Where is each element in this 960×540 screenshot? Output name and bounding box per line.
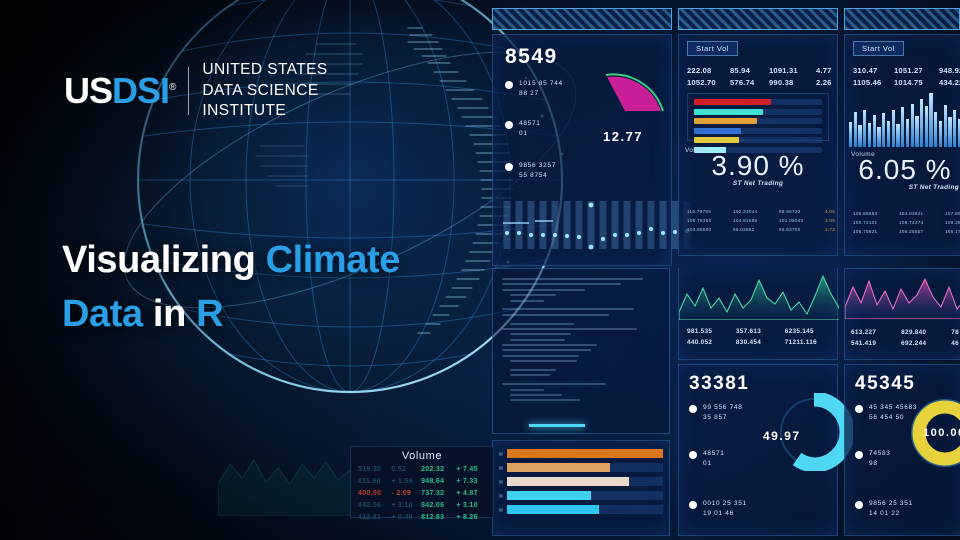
title-word-climate: Climate (266, 239, 400, 281)
cell: 1014.75 (894, 78, 932, 87)
cell: 4.05 (825, 207, 839, 216)
bar-row (694, 118, 822, 124)
cell: + 1.59 (391, 476, 421, 488)
values-col-1: 981.535 440.052 (687, 326, 712, 348)
values-col-3: 78 46 (951, 327, 959, 349)
table-row: 400.50 - 2.09 737.32 + 4.87 (358, 488, 486, 500)
value: 829.840 (901, 327, 926, 338)
panel4-list: 99 556 74835 857 4857101 0010 25 35119 0… (689, 403, 785, 523)
panel2-values-row-1: 222.08 85.94 1091.31 4.77 (687, 66, 838, 75)
code-line (502, 283, 621, 285)
code-line (502, 289, 585, 291)
cell: + 7.33 (456, 476, 486, 488)
list-item[interactable]: 9856 25 35114 01 22 (855, 499, 941, 519)
column-bar (953, 110, 956, 147)
pink-chart-values: 613.227 541.419 829.840 692.244 78 46 (851, 327, 959, 349)
cell: 1051.27 (894, 66, 932, 75)
cell: 222.08 (687, 66, 723, 75)
column-bar (911, 104, 914, 147)
cell: 519.30 (358, 464, 391, 476)
panel1-big-number: 8549 (505, 45, 558, 69)
hatched-header-bar-2 (678, 8, 838, 30)
values-col-3: 6235.145 71211.116 (785, 326, 817, 348)
cell: + 3.10 (456, 500, 486, 512)
panel1-scatter-chart (501, 197, 687, 253)
list-item-line2: 56 454 50 (869, 414, 904, 421)
list-item-line2: 14 01 22 (869, 510, 900, 517)
cell: + 7.45 (456, 464, 486, 476)
cell: 948.92 (939, 66, 960, 75)
cell: 434.22 (939, 78, 960, 87)
panel1-list: 1015 85 74488 27 4857101 9856 325755 875… (505, 79, 605, 185)
column-bar (858, 125, 861, 147)
bar-label: ▤ (499, 507, 504, 512)
column-bar (892, 110, 895, 147)
panel-start-vol-605[interactable]: Start Vol 310.47 1051.27 948.92 1105.46 … (844, 34, 960, 256)
code-line (502, 328, 637, 330)
title-word-in: in (143, 293, 196, 335)
column-bar (877, 127, 880, 147)
bar-track (507, 477, 663, 486)
column-bar (901, 107, 904, 147)
code-progress-bar (529, 424, 585, 427)
value: 613.227 (851, 327, 876, 338)
value: 440.052 (687, 337, 712, 348)
cell: 107.65.43 (945, 209, 960, 218)
cell: 1105.46 (853, 78, 887, 87)
cell: 102.23044 (733, 207, 767, 216)
cell: 811.90 (358, 476, 391, 488)
bullet-dot-icon (689, 501, 697, 509)
bullet-dot-icon (689, 405, 697, 413)
panel-metric-33381[interactable]: 33381 99 556 74835 857 4857101 0010 25 3… (678, 364, 838, 536)
list-item[interactable]: 99 556 74835 857 (689, 403, 785, 423)
code-line (510, 333, 571, 335)
title-word-r: R (196, 293, 223, 335)
cell: 412.81 (358, 512, 391, 524)
panel-source-code[interactable] (492, 268, 670, 434)
bullet-dot-icon (505, 121, 513, 129)
code-line (510, 300, 544, 302)
hatched-header-bar-1 (492, 8, 672, 30)
bar-fill (507, 477, 629, 486)
panel2-start-vol-chip: Start Vol (687, 41, 738, 56)
code-line (502, 308, 634, 310)
panel-metric-45345[interactable]: 45345 45 345 4568356 454 50 7458398 9856… (844, 364, 960, 536)
cell: 98.98722 (779, 207, 813, 216)
panel3-volume-block: Volume 6.05 % ST Net Trading (851, 151, 959, 191)
bullet-dot-icon (505, 163, 513, 171)
code-lines (502, 278, 655, 405)
bar-row: ▤ (499, 491, 663, 500)
cell: + 4.87 (456, 488, 486, 500)
code-line (502, 278, 643, 280)
bar-row: ▤ (499, 505, 663, 514)
cell: 1091.31 (769, 66, 809, 75)
column-bar (915, 116, 918, 147)
usdsi-logo: USDSI® UNITED STATES DATA SCIENCE INSTIT… (64, 60, 328, 122)
panel3-values-row-2: 1105.46 1014.75 434.22 (853, 78, 960, 87)
background-area-chart (218, 444, 358, 516)
column-bar (948, 117, 951, 147)
cell: - 2.09 (391, 488, 421, 500)
panel-area-chart-green[interactable]: 981.535 440.052 357.613 830.454 6235.145… (678, 268, 838, 360)
list-item-line1: 48571 (519, 120, 541, 127)
cell: + 0.49 (391, 512, 421, 524)
code-line (510, 399, 580, 401)
logo-us-text: US (64, 70, 112, 111)
value: 71211.116 (785, 337, 817, 348)
hatched-header-bar-3 (844, 8, 960, 30)
panel5-gauge-value: 100.00 (923, 427, 960, 439)
cell: 400.50 (358, 488, 391, 500)
column-bar (854, 112, 857, 147)
panel3-column-chart (849, 93, 960, 147)
bullet-dot-icon (855, 501, 863, 509)
cell: 100.72101 (853, 218, 887, 227)
bullet-dot-icon (689, 451, 697, 459)
list-item-line2: 19 01 46 (703, 510, 734, 517)
cell: 990.38 (769, 78, 809, 87)
table-row: 100.72101108.74474106.38880 (853, 218, 959, 227)
values-col-2: 829.840 692.244 (901, 327, 926, 349)
code-line (502, 383, 606, 385)
list-item[interactable]: 4857101 (689, 449, 785, 469)
code-line (510, 339, 565, 341)
values-col-1: 613.227 541.419 (851, 327, 876, 349)
bar-label: ▤ (499, 465, 504, 470)
title-word-visualizing: Visualizing (62, 239, 266, 281)
cell: 96.63700 (779, 225, 813, 234)
panel-metric-8549[interactable]: 8549 1015 85 74488 27 4857101 9856 32575… (492, 34, 672, 266)
logo-name-line-2: DATA SCIENCE (202, 81, 327, 102)
panel2-subcaption: ST Net Trading (685, 180, 831, 187)
code-line (502, 314, 609, 316)
list-item-line1: 99 556 748 (703, 404, 743, 411)
column-bar (944, 105, 947, 147)
panel4-big-number: 33381 (689, 373, 749, 395)
logo-full-name: UNITED STATES DATA SCIENCE INSTITUTE (202, 60, 327, 122)
list-item-line2: 35 857 (703, 414, 727, 421)
code-line (502, 355, 579, 357)
bottom-bars: ▤ ▤ ▤ ▤ ▤ (499, 449, 663, 519)
logo-divider (188, 67, 189, 115)
bar-row (694, 99, 822, 105)
bar-fill (507, 449, 663, 458)
column-bar (868, 123, 871, 147)
pink-area-svg (845, 269, 960, 319)
cell: 106.38880 (945, 218, 960, 227)
title-line-1: Visualizing Climate (62, 234, 400, 288)
panel4-gauge-value: 49.97 (763, 429, 801, 443)
table-row: 106.75821106.25557106.17217 (853, 227, 959, 236)
column-bar (887, 121, 890, 147)
cell: 108.76363 (687, 216, 721, 225)
cell: 106.75821 (853, 227, 887, 236)
cell: + 3.10 (391, 500, 421, 512)
list-item-line1: 48571 (703, 450, 725, 457)
code-line (510, 369, 556, 371)
list-item-line2: 01 (519, 130, 528, 137)
table-row: 811.90 + 1.59 948.64 + 7.33 (358, 476, 486, 488)
bar-track (507, 463, 663, 472)
bar-track (507, 449, 663, 458)
logo-name-line-1: UNITED STATES (202, 60, 327, 81)
panel3-mini-table: 106.86584104.83821107.65.43100.72101108.… (853, 209, 959, 237)
list-item[interactable]: 1015 85 74488 27 (505, 79, 605, 99)
bar-row: ▤ (499, 449, 663, 458)
value: 6235.145 (785, 326, 817, 337)
logo-wordmark: USDSI® (64, 73, 175, 109)
column-bar (882, 113, 885, 147)
panel-volume-table[interactable]: Volume 519.30 0.52 202.32 + 7.45 811.90 … (350, 446, 494, 518)
panel2-bar-chart (687, 93, 829, 141)
bar-label: ▤ (499, 493, 504, 498)
value: 357.613 (736, 326, 761, 337)
bar-row (694, 137, 822, 143)
cell: 0.52 (391, 464, 421, 476)
cell: 103.86500 (687, 225, 721, 234)
table-row: 103.8650098.0285296.637003.73 (687, 225, 831, 234)
cell: 842.06 (421, 500, 456, 512)
panel2-values-row-2: 1052.70 576.74 990.38 2.26 (687, 78, 838, 87)
cell: 1052.70 (687, 78, 723, 87)
column-bar (934, 112, 937, 147)
title-line-2: Data in R (62, 288, 400, 342)
bar-label: ▤ (499, 451, 504, 456)
column-bar (849, 122, 852, 147)
slide-canvas: USDSI® UNITED STATES DATA SCIENCE INSTIT… (0, 0, 960, 540)
cell: 737.32 (421, 488, 456, 500)
panel3-percent-value: 6.05 % (851, 154, 959, 186)
cell: 104.81688 (733, 216, 767, 225)
cell: 98.02852 (733, 225, 767, 234)
column-bar (920, 99, 923, 147)
cell: 101.05043 (779, 216, 813, 225)
logo-name-line-3: INSTITUTE (202, 101, 327, 122)
column-bar (896, 124, 899, 147)
column-bar (939, 121, 942, 147)
volume-table-title: Volume (351, 450, 493, 462)
list-item-line2: 01 (703, 460, 712, 467)
bar-row: ▤ (499, 477, 663, 486)
code-line (510, 294, 556, 296)
list-item[interactable]: 0010 25 35119 01 46 (689, 499, 785, 519)
list-item-line2: 88 27 (519, 90, 539, 97)
title-word-data: Data (62, 293, 143, 335)
value: 78 (951, 327, 959, 338)
table-row: 116.78755102.2304498.987224.05 (687, 207, 831, 216)
value: 830.454 (736, 337, 761, 348)
value: 46 (951, 338, 959, 349)
bar-label: ▤ (499, 479, 504, 484)
column-bar (873, 115, 876, 147)
cell: 310.47 (853, 66, 887, 75)
cell: 85.94 (730, 66, 762, 75)
code-line (502, 344, 597, 346)
cell: 116.78755 (687, 207, 721, 216)
registered-trademark-icon: ® (169, 82, 175, 93)
bar-track (507, 505, 663, 514)
list-item-line1: 9856 3257 (519, 162, 556, 169)
cell: 104.83821 (899, 209, 933, 218)
value: 981.535 (687, 326, 712, 337)
volume-table-rows: 519.30 0.52 202.32 + 7.45 811.90 + 1.59 … (351, 462, 493, 524)
cell: 106.17217 (945, 227, 960, 236)
list-item-line1: 74583 (869, 450, 891, 457)
list-item-line2: 98 (869, 460, 878, 467)
panel2-percent-value: 3.90 % (685, 150, 831, 182)
cell: 842.06 (358, 500, 391, 512)
code-line (510, 394, 562, 396)
cell: 3.73 (825, 225, 839, 234)
list-item-line1: 0010 25 351 (703, 500, 747, 507)
cell: 4.77 (816, 66, 838, 75)
panel-area-chart-pink[interactable]: 613.227 541.419 829.840 692.244 78 46 (844, 268, 960, 360)
logo-dsi-text: DSI (112, 70, 169, 111)
code-line (510, 374, 550, 376)
list-item-line1: 1015 85 744 (519, 80, 563, 87)
table-row: 842.06 + 3.10 842.06 + 3.10 (358, 500, 486, 512)
cell: 106.86584 (853, 209, 887, 218)
table-row: 412.81 + 0.49 812.83 + 8.26 (358, 512, 486, 524)
column-bar (925, 106, 928, 147)
panel1-arc-gauge (603, 71, 667, 117)
bar-row (694, 109, 822, 115)
bar-fill (507, 505, 599, 514)
panel2-volume-block: Volume 3.90 % ST Net Trading (685, 147, 831, 187)
cell: 812.83 (421, 512, 456, 524)
column-bar (929, 93, 932, 147)
cell: 202.32 (421, 464, 456, 476)
bullet-dot-icon (505, 81, 513, 89)
cell: 106.25557 (899, 227, 933, 236)
table-row: 108.76363104.81688101.050433.05 (687, 216, 831, 225)
column-bar (906, 119, 909, 147)
panel-start-vol-390[interactable]: Start Vol 222.08 85.94 1091.31 4.77 1052… (678, 34, 838, 256)
table-row: 519.30 0.52 202.32 + 7.45 (358, 464, 486, 476)
bar-row: ▤ (499, 463, 663, 472)
green-chart-values: 981.535 440.052 357.613 830.454 6235.145… (687, 326, 831, 348)
bullet-dot-icon (855, 405, 863, 413)
cell: 576.74 (730, 78, 762, 87)
value: 692.244 (901, 338, 926, 349)
bar-track (507, 491, 663, 500)
code-line (510, 389, 544, 391)
values-col-2: 357.613 830.454 (736, 326, 761, 348)
list-item[interactable]: 9856 325755 8754 (505, 161, 605, 181)
dashboard-overlay: 8549 1015 85 74488 27 4857101 9856 32575… (488, 0, 960, 540)
bar-fill (507, 491, 591, 500)
list-item-line2: 55 8754 (519, 172, 547, 179)
column-series (849, 93, 960, 147)
list-item-line1: 9856 25 351 (869, 500, 913, 507)
code-line (502, 349, 591, 351)
panel-bottom-bar-chart[interactable]: ▤ ▤ ▤ ▤ ▤ (492, 440, 670, 536)
bullet-dot-icon (855, 451, 863, 459)
cell: 108.74474 (899, 218, 933, 227)
bar-row (694, 128, 822, 134)
list-item[interactable]: 4857101 (505, 119, 605, 139)
value: 541.419 (851, 338, 876, 349)
code-line (510, 323, 574, 325)
code-line (510, 360, 577, 362)
green-area-svg (679, 268, 839, 320)
cell: 948.64 (421, 476, 456, 488)
cell: 2.26 (816, 78, 838, 87)
cell: 3.05 (825, 216, 839, 225)
panel1-gauge-value: 12.77 (603, 129, 643, 144)
cell: + 8.26 (456, 512, 486, 524)
page-title: Visualizing Climate Data in R (62, 234, 400, 342)
bar-fill (507, 463, 610, 472)
panel3-values-row-1: 310.47 1051.27 948.92 (853, 66, 960, 75)
table-row: 106.86584104.83821107.65.43 (853, 209, 959, 218)
column-bar (863, 110, 866, 147)
panel3-start-vol-chip: Start Vol (853, 41, 904, 56)
panel2-mini-table: 116.78755102.2304498.987224.05108.763631… (687, 207, 831, 235)
panel5-big-number: 45345 (855, 373, 915, 395)
